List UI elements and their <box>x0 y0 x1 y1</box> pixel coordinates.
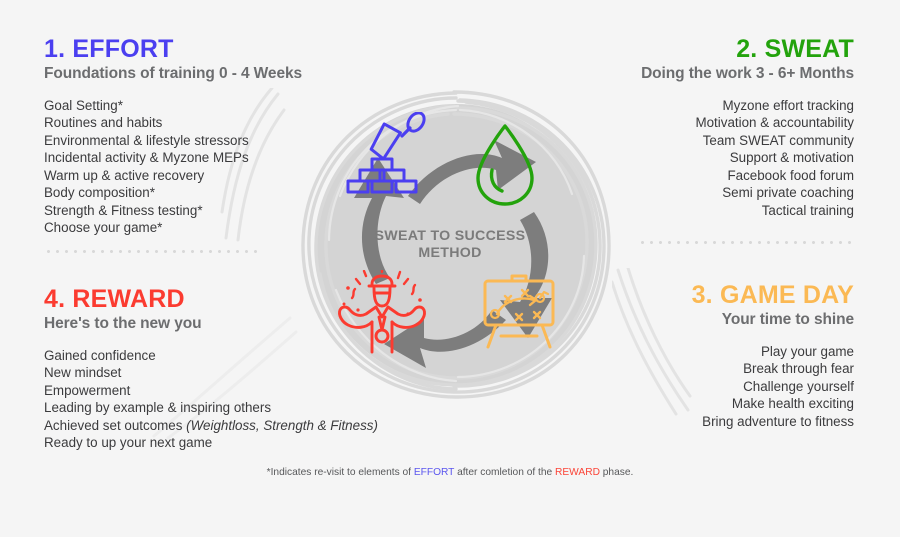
list-item: New mindset <box>44 364 394 382</box>
sweat-title: 2. SWEAT <box>544 36 854 62</box>
reward-subtitle: Here's to the new you <box>44 315 394 334</box>
list-item: Leading by example & inspiring others <box>44 399 394 417</box>
divider-dots-right <box>638 241 854 244</box>
effort-icon <box>344 112 432 202</box>
outcomes-italic: (Weightloss, Strength & Fitness) <box>186 418 378 433</box>
gameday-list: Play your game Break through fear Challe… <box>554 343 854 431</box>
list-item: Play your game <box>554 343 854 361</box>
footnote-part3: phase. <box>600 467 633 478</box>
gameday-title: 3. GAME DAY <box>554 282 854 308</box>
list-item: Make health exciting <box>554 395 854 413</box>
list-item: Strength & Fitness testing* <box>44 202 344 220</box>
list-item: Facebook food forum <box>544 167 854 185</box>
footnote-part1: *Indicates re-visit to elements of <box>267 467 414 478</box>
list-item: Bring adventure to fitness <box>554 413 854 431</box>
quadrant-reward: 4. REWARD Here's to the new you Gained c… <box>44 286 394 452</box>
list-item: Empowerment <box>44 382 394 400</box>
strategy-board-icon <box>478 272 560 350</box>
quadrant-sweat: 2. SWEAT Doing the work 3 - 6+ Months My… <box>544 36 854 219</box>
effort-subtitle: Foundations of training 0 - 4 Weeks <box>44 65 344 84</box>
list-item: Myzone effort tracking <box>544 97 854 115</box>
water-drop-icon <box>470 122 540 208</box>
sweat-icon <box>470 122 540 208</box>
center-method-label: SWEAT TO SUCCESS METHOD <box>335 228 565 262</box>
infographic-canvas: 1. EFFORT Foundations of training 0 - 4 … <box>0 0 900 537</box>
sweat-list: Myzone effort tracking Motivation & acco… <box>544 97 854 220</box>
list-item: Ready to up your next game <box>44 434 394 452</box>
list-item: Body composition* <box>44 184 344 202</box>
list-item: Gained confidence <box>44 347 394 365</box>
list-item: Incidental activity & Myzone MEPs <box>44 149 344 167</box>
footnote: *Indicates re-visit to elements of EFFOR… <box>0 467 900 478</box>
list-item: Semi private coaching <box>544 184 854 202</box>
list-item: Break through fear <box>554 360 854 378</box>
list-item: Warm up & active recovery <box>44 167 344 185</box>
quadrant-effort: 1. EFFORT Foundations of training 0 - 4 … <box>44 36 344 237</box>
list-item: Team SWEAT community <box>544 132 854 150</box>
outcomes-plain: Achieved set outcomes <box>44 418 186 433</box>
list-item: Support & motivation <box>544 149 854 167</box>
list-item: Motivation & accountability <box>544 114 854 132</box>
reward-title: 4. REWARD <box>44 286 394 312</box>
brick-wall-trowel-icon <box>344 112 432 202</box>
gameday-icon <box>478 272 560 350</box>
quadrant-gameday: 3. GAME DAY Your time to shine Play your… <box>554 282 854 430</box>
center-label-line2: METHOD <box>335 245 565 262</box>
reward-list: Gained confidence New mindset Empowermen… <box>44 347 394 452</box>
effort-list: Goal Setting* Routines and habits Enviro… <box>44 97 344 237</box>
list-item: Choose your game* <box>44 219 344 237</box>
list-item-outcomes: Achieved set outcomes (Weightloss, Stren… <box>44 417 394 435</box>
divider-dots-left <box>44 250 260 253</box>
list-item: Tactical training <box>544 202 854 220</box>
footnote-part2: after comletion of the <box>454 467 555 478</box>
center-label-line1: SWEAT TO SUCCESS <box>335 228 565 245</box>
list-item: Routines and habits <box>44 114 344 132</box>
list-item: Challenge yourself <box>554 378 854 396</box>
gameday-subtitle: Your time to shine <box>554 311 854 330</box>
footnote-effort-word: EFFORT <box>414 467 454 478</box>
list-item: Goal Setting* <box>44 97 344 115</box>
footnote-reward-word: REWARD <box>555 467 600 478</box>
list-item: Environmental & lifestyle stressors <box>44 132 344 150</box>
effort-title: 1. EFFORT <box>44 36 344 62</box>
sweat-subtitle: Doing the work 3 - 6+ Months <box>544 65 854 84</box>
